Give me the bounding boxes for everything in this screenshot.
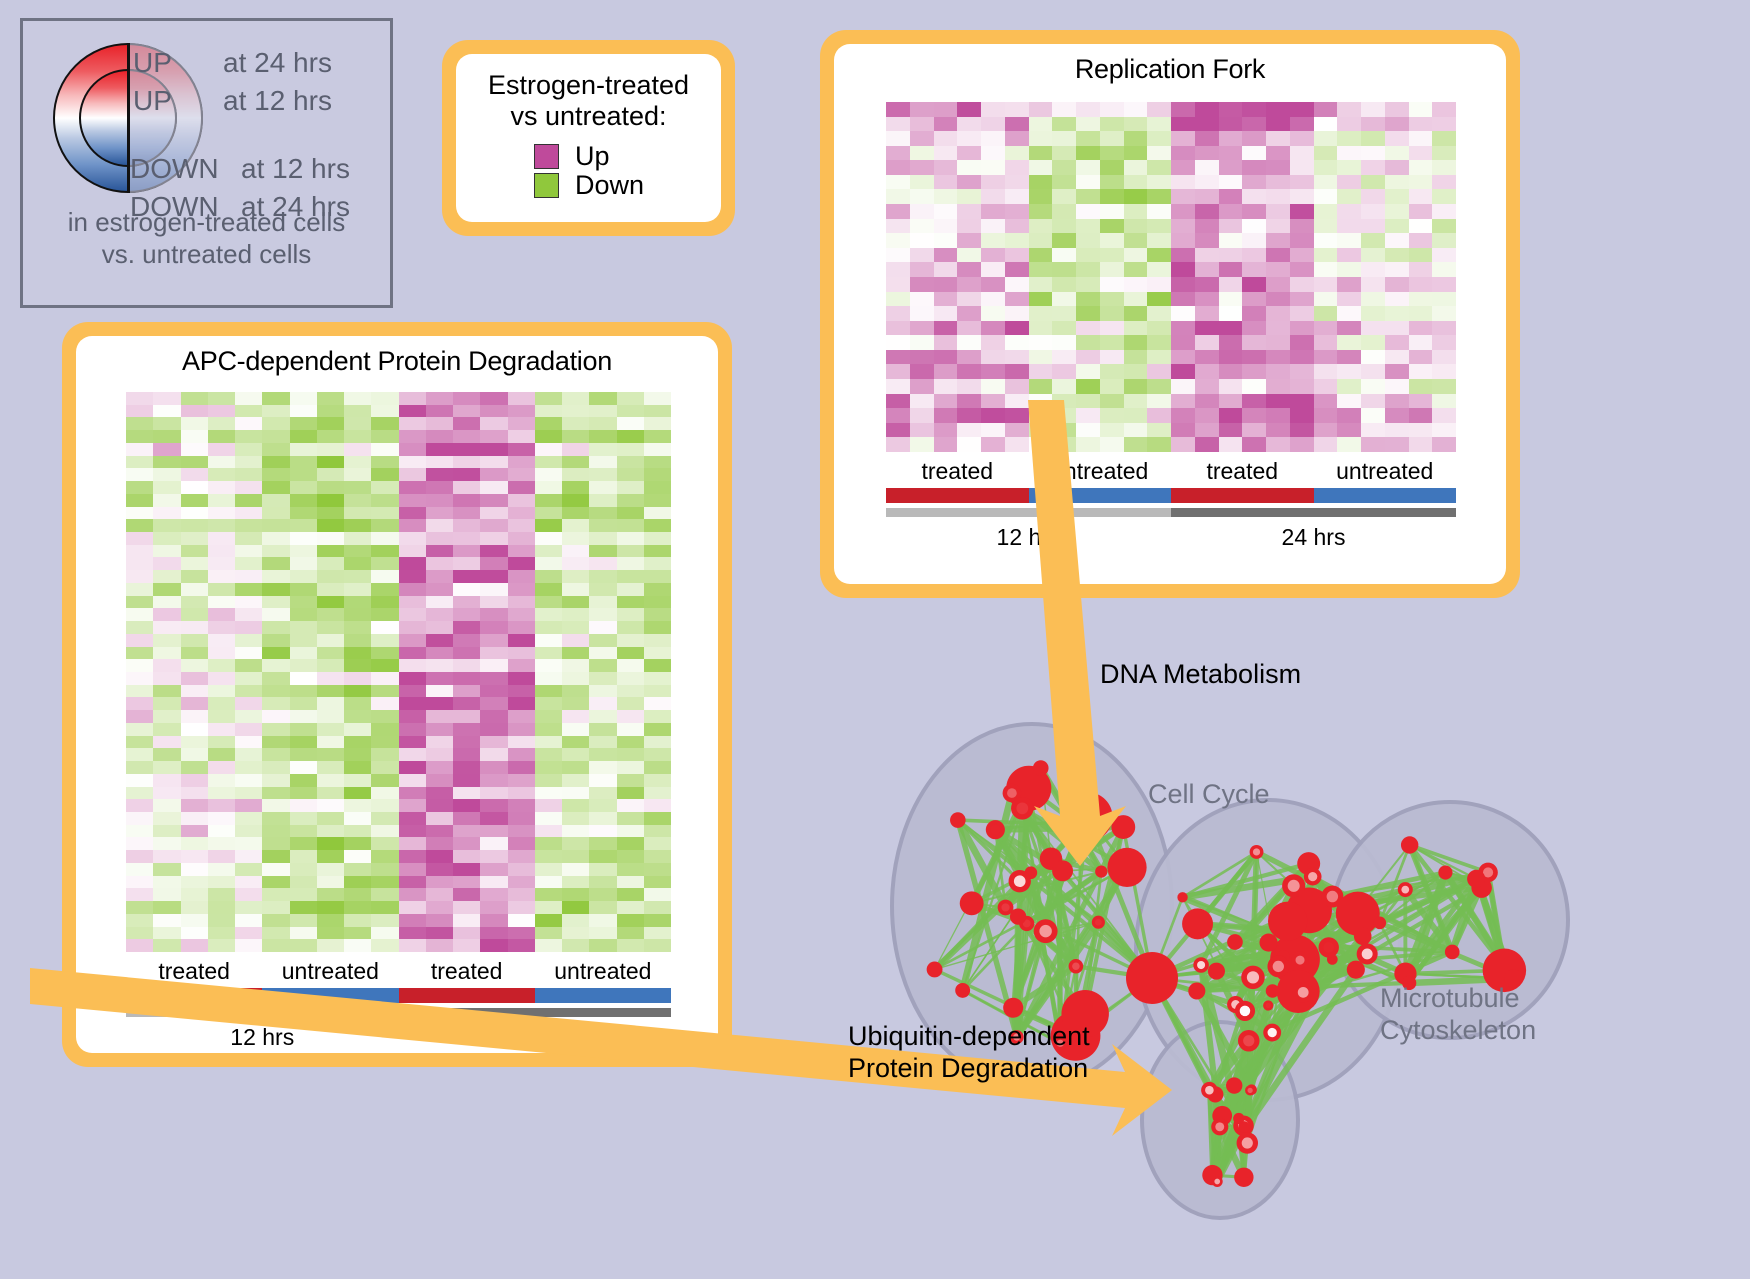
heatmap-cell <box>371 545 398 558</box>
network-node[interactable] <box>1293 982 1314 1003</box>
network-node[interactable] <box>1321 885 1343 907</box>
heatmap-cell <box>262 761 289 774</box>
heatmap-cell <box>1100 102 1124 117</box>
heatmap-cell <box>181 787 208 800</box>
heatmap-cell <box>644 583 671 596</box>
network-node-core <box>1243 1035 1254 1046</box>
heatmap-cell <box>290 570 317 583</box>
network-node[interactable] <box>1245 1085 1255 1095</box>
heatmap-cell <box>562 876 589 889</box>
heatmap-cell <box>344 774 371 787</box>
heatmap-cell <box>153 863 180 876</box>
heatmap-cell <box>1005 233 1029 248</box>
heatmap-cell <box>1385 233 1409 248</box>
heatmap-cell <box>1266 379 1290 394</box>
network-node[interactable] <box>1226 1077 1242 1093</box>
heatmap-cell <box>562 799 589 812</box>
network-node[interactable] <box>1010 908 1026 924</box>
heatmap-cell <box>1100 350 1124 365</box>
network-node[interactable] <box>1373 917 1386 930</box>
heatmap-cell <box>235 417 262 430</box>
heatmap-cell <box>126 863 153 876</box>
heatmap-cell <box>290 837 317 850</box>
heatmap-cell <box>426 583 453 596</box>
network-node[interactable] <box>1445 945 1460 960</box>
heatmap-cell <box>1337 437 1361 452</box>
heatmap-cell <box>1385 102 1409 117</box>
heatmap-cell <box>290 583 317 596</box>
heatmap-cell <box>589 596 616 609</box>
heatmap-cell <box>371 570 398 583</box>
heatmap-cell <box>208 850 235 863</box>
heatmap-cell <box>126 545 153 558</box>
heatmap-cell <box>1147 175 1171 190</box>
network-node[interactable] <box>1233 1113 1244 1124</box>
heatmap-cell <box>344 519 371 532</box>
network-node[interactable] <box>1212 1176 1223 1187</box>
heatmap-cell <box>1219 423 1243 438</box>
heatmap-cell <box>1266 131 1290 146</box>
heatmap-cell <box>208 621 235 634</box>
heatmap-cell <box>1147 292 1171 307</box>
heatmap-cell <box>126 710 153 723</box>
network-node[interactable] <box>1033 760 1049 776</box>
heatmap-cell <box>1147 277 1171 292</box>
heatmap-cell <box>1005 131 1029 146</box>
heatmap-cell <box>1314 189 1338 204</box>
heatmap-cell <box>1171 175 1195 190</box>
heatmap-cell <box>208 608 235 621</box>
heatmap-cell <box>1432 394 1456 409</box>
heatmap-cell <box>508 507 535 520</box>
heatmap-cell <box>1005 219 1029 234</box>
heatmap-cell <box>1361 102 1385 117</box>
heatmap-cell <box>910 350 934 365</box>
heatmap-cell <box>1100 394 1124 409</box>
network-node[interactable] <box>1238 1030 1260 1052</box>
heatmap-cell <box>1432 423 1456 438</box>
heatmap-cell <box>317 481 344 494</box>
network-node[interactable] <box>1070 816 1092 838</box>
heatmap-cell <box>508 888 535 901</box>
network-node[interactable] <box>1291 951 1308 968</box>
key-label-down: Down <box>575 172 644 199</box>
network-node[interactable] <box>1438 865 1452 879</box>
heatmap-cell <box>617 456 644 469</box>
heatmap-cell <box>508 532 535 545</box>
network-node[interactable] <box>1263 1000 1273 1010</box>
heatmap-cell <box>126 837 153 850</box>
heatmap-cell <box>1385 306 1409 321</box>
heatmap-cell <box>1314 117 1338 132</box>
heatmap-cell <box>1052 102 1076 117</box>
heatmap-cell <box>126 481 153 494</box>
heatmap-cell <box>1314 262 1338 277</box>
network-node[interactable] <box>1092 916 1105 929</box>
legend-caption-line1: in estrogen-treated cells <box>23 207 390 239</box>
heatmap-cell <box>589 761 616 774</box>
network-node[interactable] <box>986 820 1005 839</box>
heatmap-cell <box>1052 219 1076 234</box>
heatmap-cell <box>1314 160 1338 175</box>
heatmap-cell <box>617 507 644 520</box>
network-node[interactable] <box>1267 956 1289 978</box>
heatmap-cell <box>1171 437 1195 452</box>
network-node[interactable] <box>1227 934 1243 950</box>
heatmap-cell <box>126 672 153 685</box>
network-node[interactable] <box>1052 860 1073 881</box>
heatmap-cell <box>371 468 398 481</box>
heatmap-cell <box>910 292 934 307</box>
network-node-core <box>1240 1006 1251 1017</box>
heatmap-cell <box>371 659 398 672</box>
heatmap-cell <box>1361 131 1385 146</box>
heatmap-cell <box>644 608 671 621</box>
heatmap-cell <box>290 608 317 621</box>
network-node[interactable] <box>1282 874 1305 897</box>
heatmap-cell <box>208 481 235 494</box>
heatmap-cell <box>1432 233 1456 248</box>
panel-replication-fork: Replication Fork treated untreated treat… <box>820 30 1520 598</box>
heatmap-cell <box>181 927 208 940</box>
network-node[interactable] <box>1193 957 1209 973</box>
heatmap-cell <box>453 812 480 825</box>
heatmap-cell <box>453 927 480 940</box>
heatmap-cell <box>617 659 644 672</box>
network-node[interactable] <box>1467 870 1485 888</box>
heatmap-cell <box>153 494 180 507</box>
heatmap-cell <box>617 723 644 736</box>
heatmap-cell <box>644 761 671 774</box>
heatmap-cell <box>371 901 398 914</box>
heatmap-cell <box>1219 248 1243 263</box>
heatmap-cell <box>617 532 644 545</box>
heatmap-cell <box>1432 189 1456 204</box>
heatmap-cell <box>508 799 535 812</box>
heatmap-cell <box>1409 350 1433 365</box>
heatmap-cell <box>1337 292 1361 307</box>
heatmap-cell <box>399 697 426 710</box>
heatmap-cell <box>371 825 398 838</box>
heatmap-cell <box>1242 321 1266 336</box>
heatmap-cell <box>910 117 934 132</box>
heatmap-cell <box>617 634 644 647</box>
network-node[interactable] <box>1208 963 1225 980</box>
heatmap-cell <box>1219 160 1243 175</box>
heatmap-cell <box>371 557 398 570</box>
heatmap-cell <box>1409 306 1433 321</box>
heatmap-cell <box>589 583 616 596</box>
heatmap-cell <box>1242 160 1266 175</box>
heatmap-cell <box>1385 423 1409 438</box>
heatmap-cell <box>181 697 208 710</box>
heatmap-cell <box>480 710 507 723</box>
apc-time-bar-12hrs <box>126 1008 399 1017</box>
heatmap-cell <box>535 443 562 456</box>
heatmap-cell <box>344 710 371 723</box>
heatmap-cell <box>153 570 180 583</box>
network-node[interactable] <box>1319 937 1339 957</box>
heatmap-cell <box>562 430 589 443</box>
network-node[interactable] <box>1347 961 1365 979</box>
heatmap-cell <box>181 799 208 812</box>
heatmap-cell <box>1314 292 1338 307</box>
heatmap-cell <box>589 405 616 418</box>
network-node[interactable] <box>1304 868 1322 886</box>
heatmap-cell <box>957 204 981 219</box>
replication-fork-treatment-bar <box>886 488 1456 503</box>
heatmap-cell <box>126 850 153 863</box>
heatmap-cell <box>508 672 535 685</box>
heatmap-cell <box>934 248 958 263</box>
network-node[interactable] <box>1111 815 1135 839</box>
network-node[interactable] <box>1260 934 1278 952</box>
heatmap-cell <box>1314 131 1338 146</box>
heatmap-cell <box>126 787 153 800</box>
heatmap-cell <box>126 939 153 952</box>
heatmap-cell <box>208 927 235 940</box>
heatmap-cell <box>426 392 453 405</box>
replication-fork-time-bar <box>886 508 1456 517</box>
heatmap-cell <box>1029 117 1053 132</box>
network-node[interactable] <box>1107 848 1146 887</box>
heatmap-cell <box>1052 306 1076 321</box>
heatmap-cell <box>453 481 480 494</box>
heatmap-cell <box>1242 146 1266 161</box>
heatmap-cell <box>957 146 981 161</box>
network-node[interactable] <box>1095 865 1107 877</box>
heatmap-cell <box>181 583 208 596</box>
heatmap-cell <box>317 723 344 736</box>
heatmap-cell <box>181 876 208 889</box>
heatmap-cell <box>957 335 981 350</box>
heatmap-cell <box>508 430 535 443</box>
heatmap-cell <box>1432 117 1456 132</box>
network-node[interactable] <box>1401 836 1418 853</box>
heatmap-cell <box>126 876 153 889</box>
network-node[interactable] <box>1182 908 1213 939</box>
heatmap-cell <box>1005 423 1029 438</box>
heatmap-cell <box>453 901 480 914</box>
heatmap-cell <box>562 888 589 901</box>
apc-treatment-bar <box>126 988 671 1003</box>
heatmap-cell <box>1337 160 1361 175</box>
heatmap-cell <box>426 647 453 660</box>
network-node[interactable] <box>1201 1082 1218 1099</box>
network-node[interactable] <box>1177 892 1187 902</box>
heatmap-cell <box>617 405 644 418</box>
network-node[interactable] <box>950 812 966 828</box>
heatmap-cell <box>262 596 289 609</box>
heatmap-cell <box>153 647 180 660</box>
heatmap-cell <box>589 608 616 621</box>
heatmap-cell <box>1242 248 1266 263</box>
heatmap-cell <box>181 723 208 736</box>
heatmap-cell <box>181 443 208 456</box>
heatmap-cell <box>562 863 589 876</box>
heatmap-cell <box>126 494 153 507</box>
heatmap-cell <box>426 888 453 901</box>
heatmap-cell <box>371 863 398 876</box>
heatmap-cell <box>1171 306 1195 321</box>
heatmap-cell <box>1005 394 1029 409</box>
heatmap-cell <box>371 647 398 660</box>
heatmap-cell <box>399 392 426 405</box>
heatmap-cell <box>1171 394 1195 409</box>
network-node[interactable] <box>1237 1132 1258 1153</box>
heatmap-cell <box>1290 379 1314 394</box>
heatmap-cell <box>153 659 180 672</box>
heatmap-cell <box>1242 189 1266 204</box>
network-node-outer <box>1177 892 1187 902</box>
heatmap-cell <box>562 507 589 520</box>
network-node-outer <box>1095 865 1107 877</box>
network-node[interactable] <box>1011 797 1034 820</box>
heatmap-cell <box>1076 277 1100 292</box>
network-node-outer <box>950 812 966 828</box>
heatmap-cell <box>208 774 235 787</box>
heatmap-cell <box>1290 175 1314 190</box>
heatmap-cell <box>426 519 453 532</box>
heatmap-cell <box>589 812 616 825</box>
heatmap-cell <box>235 494 262 507</box>
heatmap-cell <box>1337 102 1361 117</box>
network-node[interactable] <box>1263 1024 1281 1042</box>
heatmap-cell <box>126 736 153 749</box>
network-node[interactable] <box>1357 943 1378 964</box>
heatmap-cell <box>910 306 934 321</box>
network-node-core <box>1362 948 1373 959</box>
heatmap-cell <box>262 456 289 469</box>
apc-group-labels: treated untreated treated untreated <box>126 958 671 985</box>
network-node[interactable] <box>1266 984 1280 998</box>
heatmap-cell <box>426 723 453 736</box>
heatmap-cell <box>235 863 262 876</box>
heatmap-cell <box>1029 437 1053 452</box>
network-node-outer <box>1033 760 1049 776</box>
heatmap-cell <box>235 799 262 812</box>
heatmap-cell <box>1432 204 1456 219</box>
heatmap-cell <box>1005 146 1029 161</box>
apc-group-label-untreated-24: untreated <box>535 958 671 985</box>
heatmap-cell <box>399 685 426 698</box>
heatmap-cell <box>317 456 344 469</box>
heatmap-cell <box>480 939 507 952</box>
network-node[interactable] <box>1126 952 1178 1004</box>
network-node[interactable] <box>960 891 984 915</box>
heatmap-cell <box>1219 131 1243 146</box>
heatmap-cell <box>1052 379 1076 394</box>
heatmap-cell <box>480 634 507 647</box>
network-node-outer <box>1227 934 1243 950</box>
network-node-outer <box>1126 952 1178 1004</box>
heatmap-cell <box>371 787 398 800</box>
network-node[interactable] <box>1354 927 1372 945</box>
heatmap-cell <box>535 697 562 710</box>
heatmap-cell <box>1124 204 1148 219</box>
heatmap-cell <box>399 837 426 850</box>
heatmap-cell <box>1005 248 1029 263</box>
heatmap-cell <box>934 204 958 219</box>
heatmap-cell <box>508 774 535 787</box>
heatmap-cell <box>317 812 344 825</box>
heatmap-cell <box>886 292 910 307</box>
heatmap-cell <box>1432 102 1456 117</box>
heatmap-cell <box>508 583 535 596</box>
heatmap-cell <box>562 596 589 609</box>
heatmap-cell <box>1337 204 1361 219</box>
heatmap-cell <box>535 468 562 481</box>
network-node[interactable] <box>1268 902 1307 941</box>
apc-treatment-bar-treated-12 <box>126 988 262 1003</box>
apc-time-bar <box>126 1008 671 1017</box>
network-node[interactable] <box>1211 1118 1228 1135</box>
heatmap-cell <box>1409 437 1433 452</box>
heatmap-cell <box>399 570 426 583</box>
heatmap-cell <box>1171 262 1195 277</box>
heatmap-cell <box>1147 233 1171 248</box>
heatmap-cell <box>235 443 262 456</box>
apc-heatmap <box>126 392 671 952</box>
heatmap-cell <box>290 494 317 507</box>
heatmap-cell <box>644 876 671 889</box>
network-node[interactable] <box>1009 870 1031 892</box>
network-node[interactable] <box>1250 845 1264 859</box>
heatmap-cell <box>1171 350 1195 365</box>
heatmap-cell <box>426 685 453 698</box>
heatmap-cell <box>1290 292 1314 307</box>
network-node[interactable] <box>1234 1168 1253 1187</box>
heatmap-cell <box>426 850 453 863</box>
heatmap-cell <box>317 507 344 520</box>
network-node[interactable] <box>1398 882 1413 897</box>
heatmap-cell <box>235 392 262 405</box>
heatmap-cell <box>1029 277 1053 292</box>
heatmap-cell <box>535 659 562 672</box>
heatmap-cell <box>535 621 562 634</box>
heatmap-cell <box>1005 437 1029 452</box>
network-node[interactable] <box>1235 1001 1255 1021</box>
heatmap-cell <box>235 634 262 647</box>
heatmap-cell <box>426 570 453 583</box>
heatmap-cell <box>1266 262 1290 277</box>
heatmap-cell <box>1290 146 1314 161</box>
heatmap-cell <box>1266 292 1290 307</box>
heatmap-cell <box>208 939 235 952</box>
heatmap-cell <box>644 939 671 952</box>
heatmap-cell <box>453 939 480 952</box>
heatmap-cell <box>1361 262 1385 277</box>
treatment-bar-treated-24 <box>1171 488 1314 503</box>
heatmap-cell <box>886 262 910 277</box>
network-node[interactable] <box>1241 966 1264 989</box>
heatmap-cell <box>1124 277 1148 292</box>
heatmap-cell <box>1266 219 1290 234</box>
heatmap-cell <box>262 430 289 443</box>
heatmap-cell <box>886 146 910 161</box>
heatmap-cell <box>235 507 262 520</box>
heatmap-cell <box>1314 306 1338 321</box>
heatmap-cell <box>453 863 480 876</box>
heatmap-cell <box>290 863 317 876</box>
heatmap-cell <box>181 468 208 481</box>
heatmap-cell <box>589 570 616 583</box>
group-label-untreated-24: untreated <box>1314 458 1457 485</box>
heatmap-cell <box>1219 277 1243 292</box>
heatmap-cell <box>480 507 507 520</box>
network-node[interactable] <box>1188 982 1205 999</box>
heatmap-cell <box>344 507 371 520</box>
